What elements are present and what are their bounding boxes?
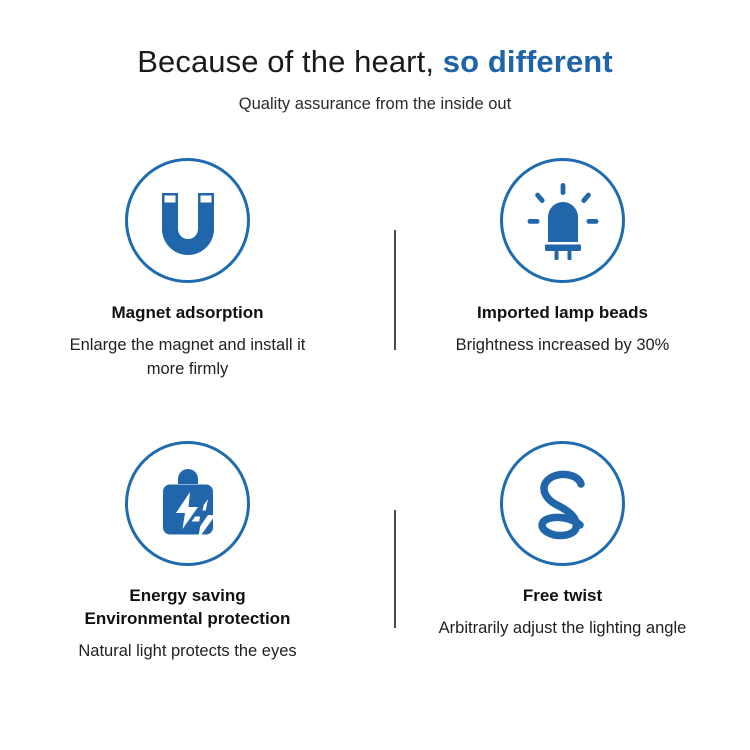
- feature-title: Imported lamp beads: [477, 302, 648, 325]
- feature-card-magnet-adsorption: Magnet adsorption Enlarge the magnet and…: [0, 158, 375, 381]
- page-title: Because of the heart, so different: [0, 44, 750, 81]
- feature-description: Enlarge the magnet and install it more f…: [55, 334, 320, 382]
- header: Because of the heart, so different Quali…: [0, 0, 750, 115]
- horseshoe-magnet-icon: [125, 158, 250, 283]
- column-divider-row-2: [394, 510, 396, 628]
- feature-description: Brightness increased by 30%: [456, 334, 670, 358]
- feature-description: Arbitrarily adjust the lighting angle: [439, 617, 687, 641]
- feature-title: Energy saving Environmental protection: [85, 585, 291, 630]
- page-title-accent: so different: [443, 44, 613, 79]
- infographic-page: Because of the heart, so different Quali…: [0, 0, 750, 750]
- s-curve-gooseneck-icon: [500, 441, 625, 566]
- page-title-plain: Because of the heart,: [137, 44, 434, 79]
- led-lamp-bead-icon: [500, 158, 625, 283]
- page-subtitle: Quality assurance from the inside out: [0, 94, 750, 115]
- feature-description: Natural light protects the eyes: [78, 640, 296, 664]
- column-divider-row-1: [394, 230, 396, 350]
- feature-title: Free twist: [523, 585, 602, 608]
- feature-title: Magnet adsorption: [111, 302, 263, 325]
- feature-card-energy-saving: Energy saving Environmental protection N…: [0, 441, 375, 663]
- feature-card-imported-lamp-beads: Imported lamp beads Brightness increased…: [375, 158, 750, 381]
- feature-card-free-twist: Free twist Arbitrarily adjust the lighti…: [375, 441, 750, 663]
- feature-grid: Magnet adsorption Enlarge the magnet and…: [0, 158, 750, 664]
- battery-bolt-icon: [125, 441, 250, 566]
